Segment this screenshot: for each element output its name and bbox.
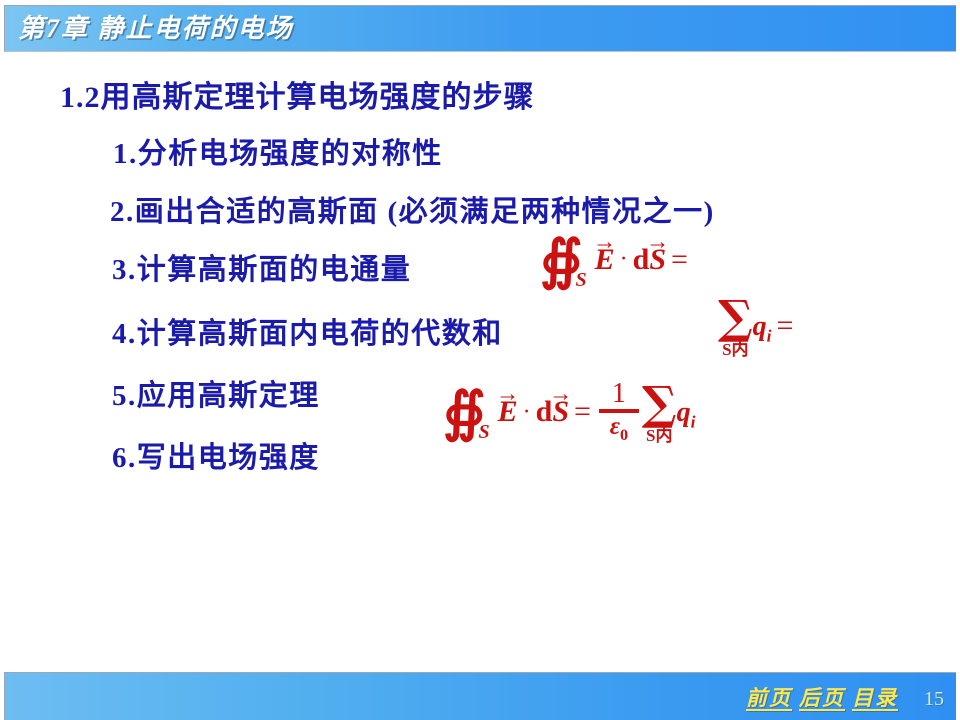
step-item-3: 3.计算高斯面的电通量	[112, 246, 411, 288]
summation-subscript: S内	[722, 341, 748, 358]
step-item-2: 2.画出合适的高斯面 (必须满足两种情况之一)	[110, 188, 715, 230]
formula-electric-flux: ∯ S → E · d → S =	[540, 238, 693, 282]
summation-symbol: ∑ S内	[718, 294, 753, 358]
nav-next-page[interactable]: 后页	[799, 682, 845, 712]
nav-contents[interactable]: 目录	[852, 682, 898, 712]
vector-E: → E	[595, 243, 615, 277]
fraction-numerator: 1	[612, 380, 626, 409]
equals-sign: =	[666, 243, 693, 277]
footer-navigation: 前页 后页 目录	[746, 682, 898, 712]
summation-symbol: ∑ S内	[642, 380, 677, 444]
step-item-5: 5.应用高斯定理	[112, 372, 320, 414]
integral-subscript: S	[478, 424, 489, 440]
dot-operator: ·	[518, 399, 536, 426]
charge-qi: qi	[753, 311, 772, 347]
vector-arrow-icon: →	[646, 231, 669, 254]
chapter-title: 第7章 静止电荷的电场	[18, 8, 294, 45]
equals-sign: =	[569, 395, 596, 429]
step-item-1: 1.分析电场强度的对称性	[113, 130, 443, 172]
integral-subscript: S	[575, 272, 586, 288]
nav-prev-page[interactable]: 前页	[746, 682, 792, 712]
vector-E: → E	[498, 395, 518, 429]
vector-arrow-icon: →	[593, 231, 616, 254]
fraction-denominator: ε0	[610, 413, 628, 443]
vector-dS: → S	[649, 243, 666, 277]
vector-dS: → S	[552, 395, 569, 429]
charge-qi: qi	[677, 397, 696, 433]
formula-gauss-law: ∯ S → E · d → S = 1 ε0 ∑ S内 qi	[443, 380, 695, 444]
closed-surface-integral-icon: ∯ S	[540, 238, 583, 282]
summation-subscript: S内	[646, 427, 672, 444]
vector-arrow-icon: →	[549, 383, 572, 406]
fraction-one-over-epsilon0: 1 ε0	[599, 380, 639, 443]
slide-heading: 1.2用高斯定理计算电场强度的步骤	[60, 72, 535, 116]
dot-operator: ·	[615, 246, 633, 273]
closed-surface-integral-icon: ∯ S	[443, 390, 486, 434]
equals-sign: =	[771, 309, 798, 343]
step-item-4: 4.计算高斯面内电荷的代数和	[112, 310, 503, 352]
step-item-6: 6.写出电场强度	[112, 434, 320, 476]
page-number: 15	[924, 688, 944, 711]
formula-enclosed-charge: ∑ S内 qi =	[718, 294, 798, 358]
vector-arrow-icon: →	[496, 383, 519, 406]
